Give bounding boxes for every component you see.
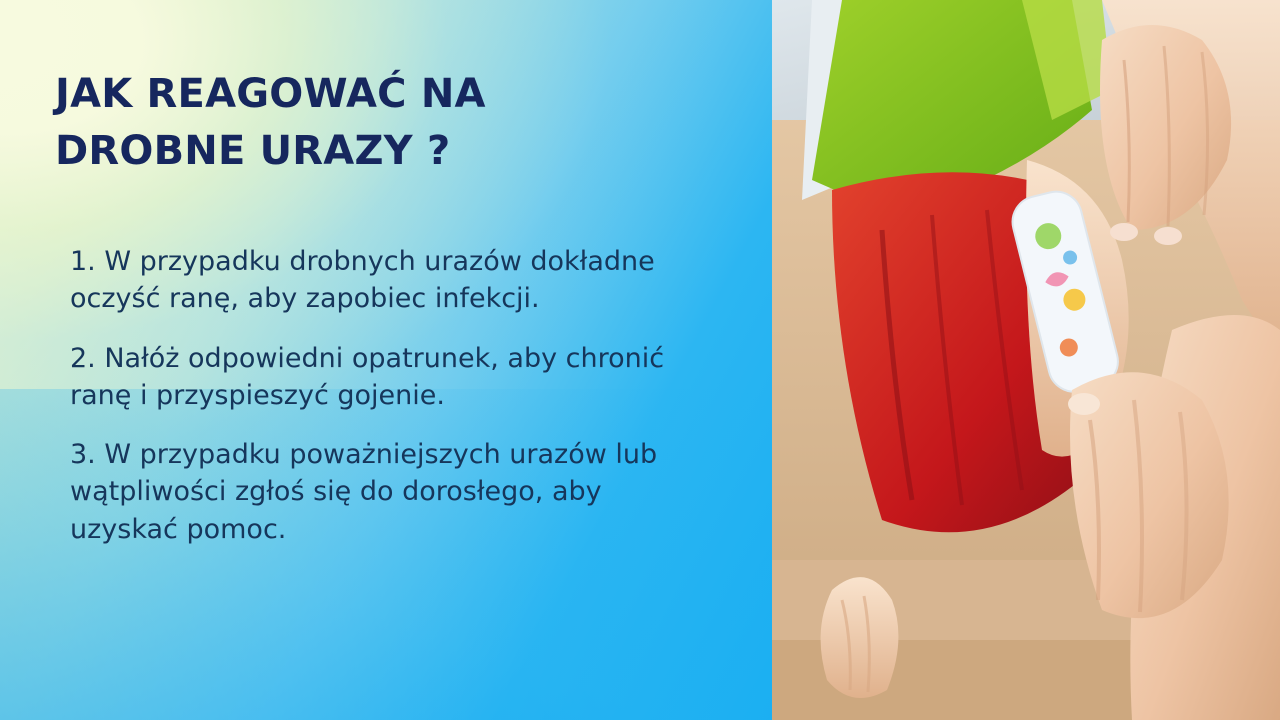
body-text: 1. W przypadku drobnych urazów dokładne …: [70, 243, 690, 548]
photo-illustration: [772, 0, 1280, 720]
page-title: JAK REAGOWAĆ NA DROBNE URAZY ?: [55, 66, 695, 180]
title-line-2: DROBNE URAZY ?: [55, 123, 695, 180]
slide: JAK REAGOWAĆ NA DROBNE URAZY ? 1. W przy…: [0, 0, 1280, 720]
list-item: 1. W przypadku drobnych urazów dokładne …: [70, 243, 690, 318]
list-item: 2. Nałóż odpowiedni opatrunek, aby chron…: [70, 340, 690, 415]
title-line-1: JAK REAGOWAĆ NA: [55, 66, 695, 123]
list-item: 3. W przypadku poważniejszych urazów lub…: [70, 436, 690, 548]
slide-photo: [772, 0, 1280, 720]
